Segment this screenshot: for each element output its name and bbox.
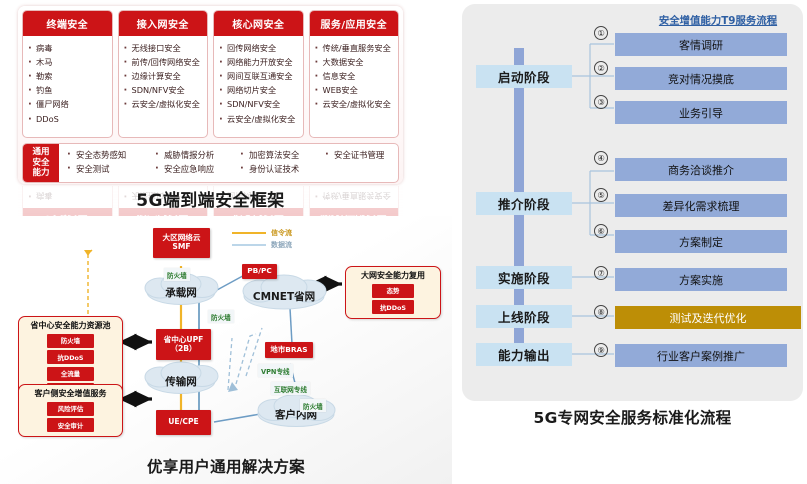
framework-item: 信息安全 [314, 69, 396, 83]
node-label-line: PB/PC [247, 267, 272, 276]
framework-caption: 5G端到端安全框架 [18, 186, 403, 211]
tag-firewall: 防火墙 [208, 310, 234, 323]
node-upf[interactable]: 省中心UPF （2B） [156, 329, 211, 360]
stage-capability-output[interactable]: 能力输出 [476, 343, 572, 366]
framework-column-items: 无线接口安全 前传/回传网络安全 边缘计算安全 SDN/NFV安全 云安全/虚拟… [119, 36, 208, 137]
tag-firewall: 防火墙 [300, 399, 326, 412]
cloud-transport-network: 传输网 [147, 371, 215, 391]
common-capability-item: 安全证书管理 [323, 148, 384, 162]
framework-column-header: 接入网安全 [119, 11, 208, 36]
framework-item: 云安全/虚拟化安全 [218, 112, 300, 126]
node-pb-pc[interactable]: PB/PC [242, 264, 277, 279]
step-business-guidance[interactable]: 业务引导 [615, 101, 787, 124]
pool-chip[interactable]: 态势 [372, 284, 414, 298]
framework-item: 云安全/虚拟化安全 [314, 97, 396, 111]
common-capability-item: 安全测试 [65, 162, 153, 176]
framework-item: 网间互联互通安全 [218, 69, 300, 83]
cloud-label: CMNET省网 [253, 289, 315, 304]
step-case-promotion[interactable]: 行业客户案例推广 [615, 344, 787, 367]
stage-implementation[interactable]: 实施阶段 [476, 266, 572, 289]
framework-item: 勒索 [27, 69, 109, 83]
pool-title: 大网安全能力复用 [350, 270, 436, 281]
common-capability-item: 安全应急响应 [153, 162, 238, 176]
pool-chip[interactable]: 抗DDoS [372, 300, 414, 314]
node-smf[interactable]: 大区网络云 SMF [153, 228, 210, 258]
framework-columns: 终端安全 病毒 木马 勒索 钓鱼 僵尸网络 DDoS 接入网安全 无线接口安全 … [22, 10, 399, 138]
pool-chip[interactable]: 安全审计 [47, 418, 94, 432]
step-number-1: ① [593, 25, 609, 41]
pool-title: 客户侧安全增值服务 [23, 388, 118, 399]
step-number-6: ⑥ [593, 223, 609, 239]
tag-internet-line: 互联网专线 [271, 382, 310, 395]
node-label-line: UE/CPE [168, 418, 198, 427]
pool-title: 省中心安全能力资源池 [23, 320, 118, 331]
t9-process-panel: 安全增值能力T9服务流程 启动阶段 推介阶段 实施阶段 上线阶段 能力输出 ① … [462, 4, 803, 401]
common-capability-row: 安全态势感知 威胁情报分析 加密算法安全 安全证书管理 [65, 148, 396, 162]
common-capability-label-line: 能力 [32, 168, 49, 178]
framework-column-access-network: 接入网安全 无线接口安全 前传/回传网络安全 边缘计算安全 SDN/NFV安全 … [118, 10, 209, 138]
framework-item: 网络切片安全 [218, 83, 300, 97]
process-title: 安全增值能力T9服务流程 [638, 12, 798, 27]
pool-customer-side[interactable]: 客户侧安全增值服务 风险评估 安全审计 [18, 384, 123, 437]
common-security-capability-row: 通用 安全 能力 安全态势感知 威胁情报分析 加密算法安全 安全证书管理 安全测… [22, 143, 399, 183]
framework-item: WEB安全 [314, 83, 396, 97]
stage-startup[interactable]: 启动阶段 [476, 65, 572, 88]
framework-column-header: 服务/应用安全 [310, 11, 399, 36]
step-business-negotiation[interactable]: 商务洽谈推介 [615, 158, 787, 181]
step-number-9: ⑨ [593, 342, 609, 358]
legend-label: 信令流 [271, 228, 292, 238]
pool-chip[interactable]: 抗DDoS [47, 350, 94, 364]
framework-item: 网络能力开放安全 [218, 55, 300, 69]
pool-wan-reuse[interactable]: 大网安全能力复用 态势 抗DDoS [345, 266, 441, 319]
pool-chips: 风险评估 安全审计 [23, 402, 118, 433]
pool-chip[interactable]: 风险评估 [47, 402, 94, 416]
pool-chip[interactable]: 全流量 [47, 367, 94, 381]
security-framework-panel: 终端安全 病毒 木马 勒索 钓鱼 僵尸网络 DDoS 接入网安全 无线接口安全 … [18, 6, 403, 184]
legend-swatch [232, 232, 266, 234]
common-capability-row: 安全测试 安全应急响应 身份认证技术 [65, 162, 396, 176]
step-number-5: ⑤ [593, 187, 609, 203]
framework-item: 传统/垂直服务安全 [314, 41, 396, 55]
common-capability-label: 通用 安全 能力 [23, 144, 59, 182]
legend-item-signaling: 信令流 [232, 228, 292, 238]
stage-golive[interactable]: 上线阶段 [476, 305, 572, 328]
common-capability-label-line: 安全 [32, 158, 49, 168]
framework-column-items: 回传网络安全 网络能力开放安全 网间互联互通安全 网络切片安全 SDN/NFV安… [214, 36, 303, 137]
step-competitor-survey[interactable]: 竞对情况摸底 [615, 67, 787, 90]
common-capability-item: 加密算法安全 [238, 148, 323, 162]
framework-item: 大数据安全 [314, 55, 396, 69]
framework-column-items: 病毒 木马 勒索 钓鱼 僵尸网络 DDoS [23, 36, 112, 137]
step-solution-implementation[interactable]: 方案实施 [615, 268, 787, 291]
node-label-line: 地市BRAS [270, 346, 307, 355]
framework-item: 木马 [27, 55, 109, 69]
tag-firewall: 防火墙 [164, 268, 190, 281]
common-capability-label-line: 通用 [32, 147, 49, 157]
cloud-bearer-network: 承载网 [147, 282, 215, 302]
topology-caption: 优享用户通用解决方案 [0, 455, 452, 477]
node-label-line: SMF [172, 243, 190, 252]
framework-item: 无线接口安全 [123, 41, 205, 55]
common-capability-item: 身份认证技术 [238, 162, 299, 176]
pool-chip[interactable]: 防火墙 [47, 334, 94, 348]
framework-column-header: 终端安全 [23, 11, 112, 36]
framework-item: 病毒 [27, 41, 109, 55]
step-test-and-iteration[interactable]: 测试及迭代优化 [615, 306, 801, 329]
step-solution-design[interactable]: 方案制定 [615, 230, 787, 253]
framework-column-terminal: 终端安全 病毒 木马 勒索 钓鱼 僵尸网络 DDoS [22, 10, 113, 138]
step-number-8: ⑧ [593, 304, 609, 320]
framework-column-core-network: 核心网安全 回传网络安全 网络能力开放安全 网间互联互通安全 网络切片安全 SD… [213, 10, 304, 138]
common-capability-item: 安全态势感知 [65, 148, 153, 162]
node-bras[interactable]: 地市BRAS [265, 342, 313, 358]
tag-vpn-line: VPN专线 [258, 364, 293, 377]
framework-item: 云安全/虚拟化安全 [123, 97, 205, 111]
framework-item: 前传/回传网络安全 [123, 55, 205, 69]
legend-label: 数据流 [271, 240, 292, 250]
step-differentiated-requirements[interactable]: 差异化需求梳理 [615, 194, 787, 217]
step-customer-research[interactable]: 客情调研 [615, 33, 787, 56]
framework-item: DDoS [27, 112, 109, 126]
stage-promotion[interactable]: 推介阶段 [476, 192, 572, 215]
common-capability-items: 安全态势感知 威胁情报分析 加密算法安全 安全证书管理 安全测试 安全应急响应 … [59, 144, 398, 182]
framework-column-service-application: 服务/应用安全 传统/垂直服务安全 大数据安全 信息安全 WEB安全 云安全/虚… [309, 10, 400, 138]
step-number-2: ② [593, 60, 609, 76]
framework-item: 回传网络安全 [218, 41, 300, 55]
framework-item: 边缘计算安全 [123, 69, 205, 83]
process-caption: 5G专网安全服务标准化流程 [462, 406, 803, 428]
legend-item-data: 数据流 [232, 240, 292, 250]
step-number-4: ④ [593, 150, 609, 166]
common-capability-item: 威胁情报分析 [153, 148, 238, 162]
framework-item: SDN/NFV安全 [123, 83, 205, 97]
legend-swatch [232, 244, 266, 246]
framework-item: 钓鱼 [27, 83, 109, 97]
pool-chips: 态势 抗DDoS [350, 284, 436, 315]
framework-column-items: 传统/垂直服务安全 大数据安全 信息安全 WEB安全 云安全/虚拟化安全 [310, 36, 399, 137]
topology-legend: 信令流 数据流 [232, 228, 292, 252]
framework-column-header: 核心网安全 [214, 11, 303, 36]
step-number-3: ③ [593, 94, 609, 110]
cloud-cmnet-province: CMNET省网 [241, 286, 327, 306]
framework-item: 僵尸网络 [27, 97, 109, 111]
node-label-line: （2B） [170, 345, 196, 354]
step-number-7: ⑦ [593, 265, 609, 281]
framework-item: SDN/NFV安全 [218, 97, 300, 111]
cloud-label: 传输网 [165, 374, 197, 389]
node-ue-cpe[interactable]: UE/CPE [156, 410, 211, 435]
network-topology-diagram: 信令流 数据流 大区网络云 SMF 省中心UPF （2B） UE/CPE PB/… [0, 216, 452, 484]
cloud-label: 承载网 [165, 285, 197, 300]
